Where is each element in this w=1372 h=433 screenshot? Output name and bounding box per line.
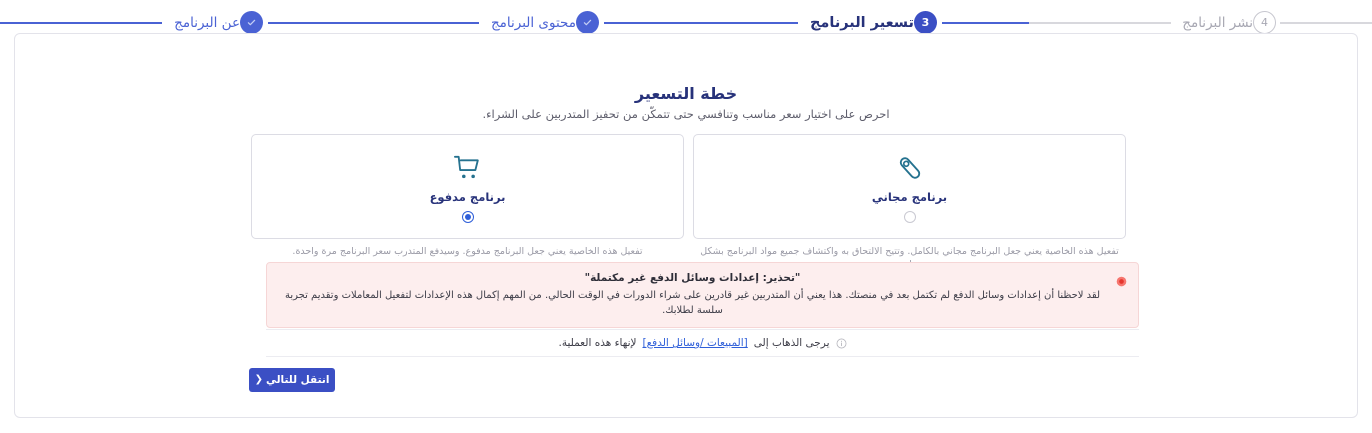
info-circle-icon [836, 338, 847, 349]
step-title: نشر البرنامج [1182, 15, 1253, 31]
pricing-option-paid-radio[interactable] [462, 211, 474, 223]
pricing-option-free[interactable]: برنامج مجاني تفعيل هذه الخاصية يعني جعل … [693, 134, 1126, 271]
ticket-icon [895, 151, 925, 185]
step-title: محتوى البرنامج [491, 15, 576, 31]
chevron-left-icon: ❮ [255, 375, 263, 385]
next-step-button[interactable]: انتقل للتالي ❮ [249, 368, 335, 392]
pricing-option-paid-help: تفعيل هذه الخاصية يعني جعل البرنامج مدفو… [251, 245, 684, 258]
shopping-cart-icon [453, 151, 483, 185]
page-title: خطة التسعير [15, 84, 1357, 103]
next-step-button-label: انتقل للتالي [266, 374, 329, 386]
step-title: تسعير البرنامج [810, 15, 914, 31]
pricing-step-card: خطة التسعير احرص على اختيار سعر مناسب وت… [14, 33, 1358, 418]
pricing-option-free-label: برنامج مجاني [872, 190, 947, 204]
step-number-badge: 4 [1253, 11, 1276, 34]
error-circle-icon [1116, 272, 1127, 283]
pricing-option-paid-label: برنامج مدفوع [430, 190, 506, 204]
pricing-options-group: برنامج مدفوع تفعيل هذه الخاصية يعني جعل … [251, 134, 1126, 271]
page-subtitle: احرص على اختيار سعر مناسب وتنافسي حتى تت… [15, 107, 1357, 121]
step-title: عن البرنامج [174, 15, 240, 31]
info-suffix-text: لإنهاء هذه العملية. [559, 337, 637, 349]
step-number-badge: 3 [914, 11, 937, 34]
step-check-icon [576, 11, 599, 34]
step-check-icon [240, 11, 263, 34]
payment-settings-link[interactable]: [المبيعات /وسائل الدفع] [642, 337, 747, 349]
info-prefix-text: يرجى الذهاب إلى [754, 337, 830, 349]
pricing-option-free-box[interactable]: برنامج مجاني [693, 134, 1126, 239]
alert-body: لقد لاحظنا أن إعدادات وسائل الدفع لم تكت… [281, 288, 1104, 318]
pricing-option-paid-box[interactable]: برنامج مدفوع [251, 134, 684, 239]
payment-settings-info-row: يرجى الذهاب إلى [المبيعات /وسائل الدفع] … [266, 329, 1139, 357]
payment-settings-warning-alert: "تحذير: إعدادات وسائل الدفع غير مكتملة" … [266, 262, 1139, 328]
pricing-option-paid[interactable]: برنامج مدفوع تفعيل هذه الخاصية يعني جعل … [251, 134, 684, 271]
alert-title: "تحذير: إعدادات وسائل الدفع غير مكتملة" [281, 271, 1104, 286]
pricing-option-free-radio[interactable] [904, 211, 916, 223]
